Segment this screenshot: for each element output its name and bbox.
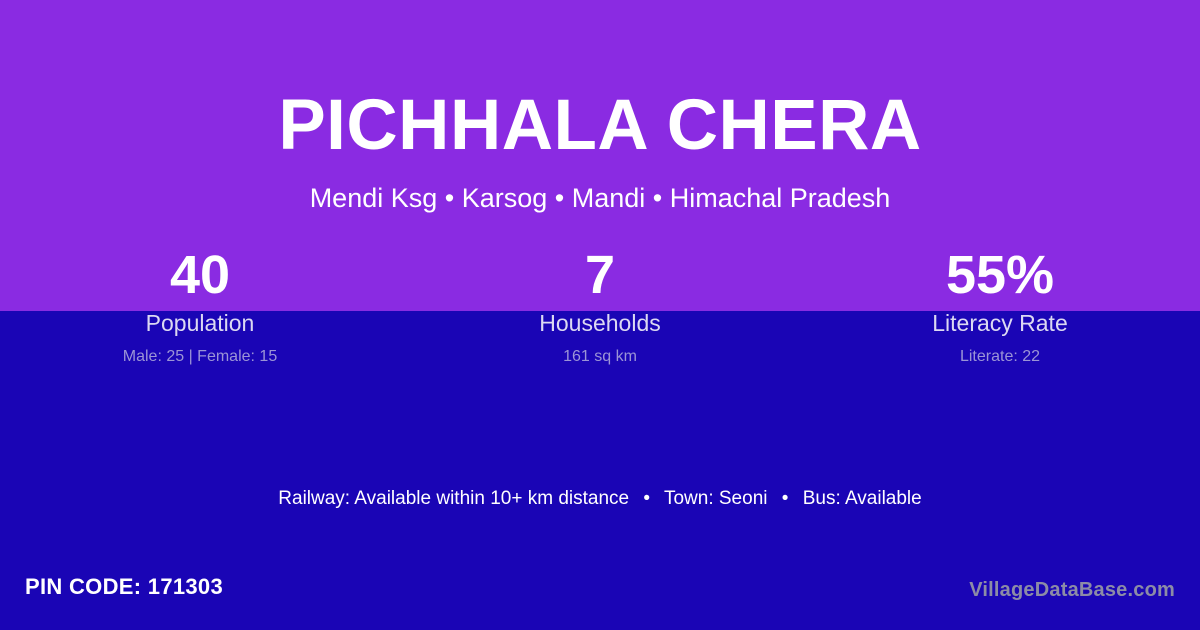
card-footer: PIN CODE: 171303 VillageDataBase.com xyxy=(0,560,1200,630)
stat-label: Population xyxy=(0,312,400,335)
pin-code-label: PIN CODE: 171303 xyxy=(25,574,223,600)
bullet-separator-icon: • xyxy=(773,488,798,510)
village-info-card: PICHHALA CHERA Mendi Ksg • Karsog • Mand… xyxy=(0,0,1200,630)
bus-info: Bus: Available xyxy=(803,488,922,509)
stat-label: Literacy Rate xyxy=(800,312,1200,335)
stat-value: 55% xyxy=(800,248,1200,304)
bullet-separator-icon: • xyxy=(634,488,659,510)
stat-sublabel: Literate: 22 xyxy=(800,349,1200,365)
stat-value: 7 xyxy=(400,248,800,304)
stat-label: Households xyxy=(400,312,800,335)
railway-info: Railway: Available within 10+ km distanc… xyxy=(278,488,629,509)
page-title: PICHHALA CHERA xyxy=(0,90,1200,161)
site-brand-watermark: VillageDataBase.com xyxy=(969,578,1175,602)
stat-literacy-rate: 55% Literacy Rate Literate: 22 xyxy=(800,248,1200,365)
stat-sublabel: Male: 25 | Female: 15 xyxy=(0,349,400,365)
stats-row: 40 Population Male: 25 | Female: 15 7 Ho… xyxy=(0,248,1200,365)
stat-sublabel: 161 sq km xyxy=(400,349,800,365)
stat-population: 40 Population Male: 25 | Female: 15 xyxy=(0,248,400,365)
amenities-row: Railway: Available within 10+ km distanc… xyxy=(0,488,1200,510)
town-info: Town: Seoni xyxy=(664,488,768,509)
breadcrumb: Mendi Ksg • Karsog • Mandi • Himachal Pr… xyxy=(0,185,1200,212)
stat-households: 7 Households 161 sq km xyxy=(400,248,800,365)
stat-value: 40 xyxy=(0,248,400,304)
